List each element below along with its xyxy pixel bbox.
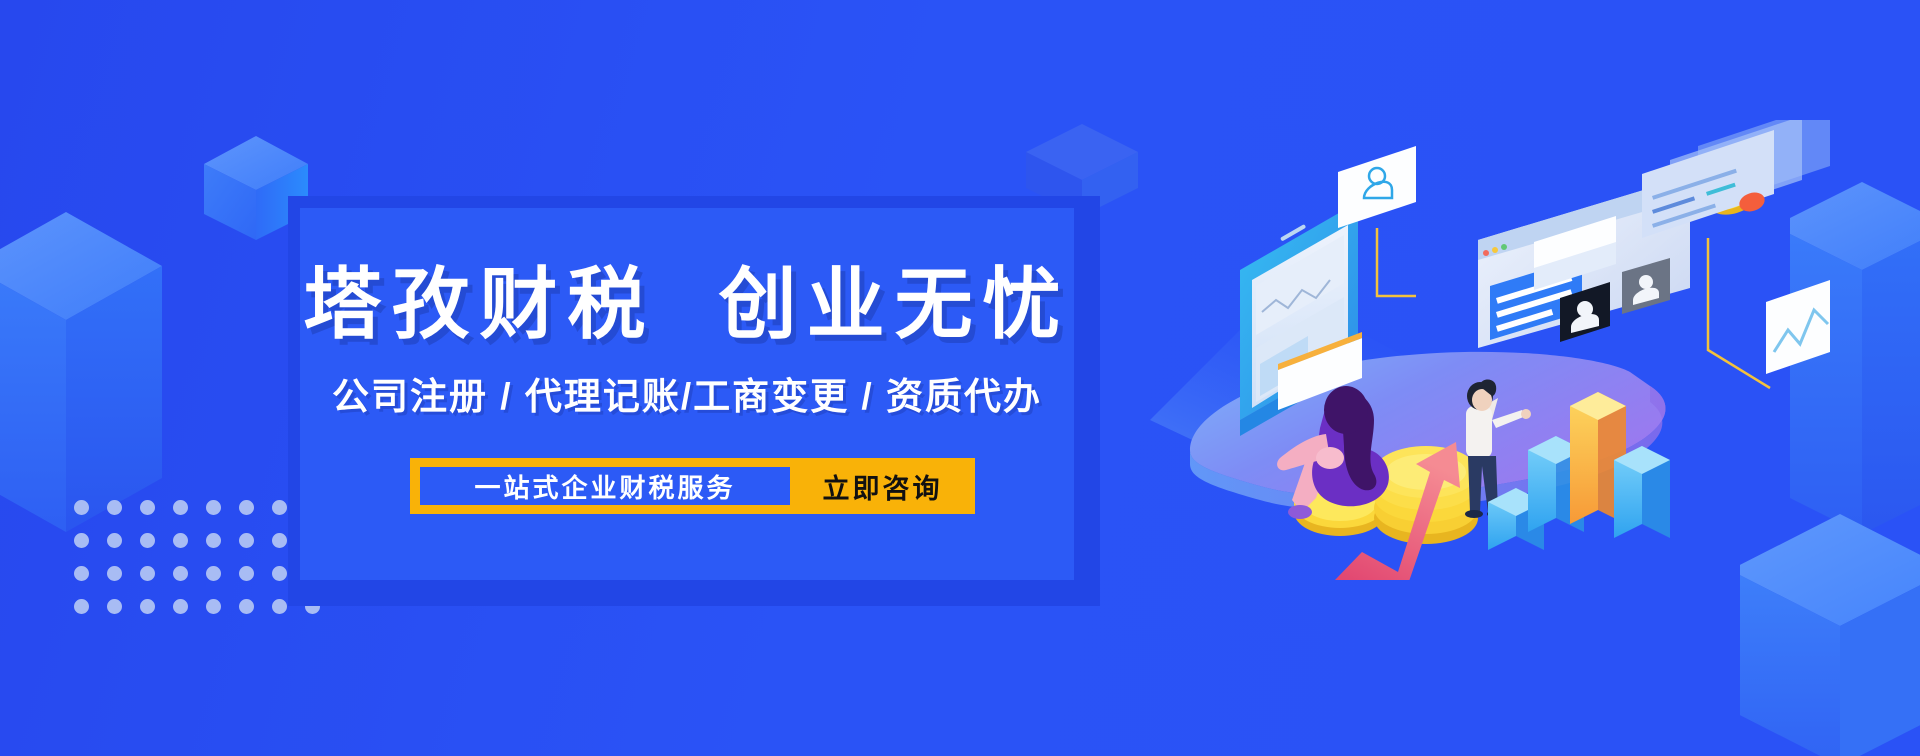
cta-bar: 一站式企业财税服务 立即咨询 (410, 458, 975, 514)
headline-frame-inner: 塔孜财税 创业无忧 公司注册 / 代理记账/工商变更 / 资质代办 一站式企业财… (300, 208, 1074, 580)
cube-big-left-icon (0, 206, 166, 536)
isometric-finance-illustration (1130, 120, 1830, 580)
dot-grid-decoration (74, 500, 320, 614)
headline-frame: 塔孜财税 创业无忧 公司注册 / 代理记账/工商变更 / 资质代办 一站式企业财… (288, 196, 1100, 606)
cta-tagline: 一站式企业财税服务 (420, 467, 790, 505)
promo-banner: 塔孜财税 创业无忧 公司注册 / 代理记账/工商变更 / 资质代办 一站式企业财… (0, 0, 1920, 756)
consult-now-button[interactable]: 立即咨询 (790, 467, 975, 506)
service-list-subtitle: 公司注册 / 代理记账/工商变更 / 资质代办 (300, 366, 1074, 420)
page-title: 塔孜财税 创业无忧 (300, 242, 1074, 354)
chart-card (1766, 280, 1830, 374)
